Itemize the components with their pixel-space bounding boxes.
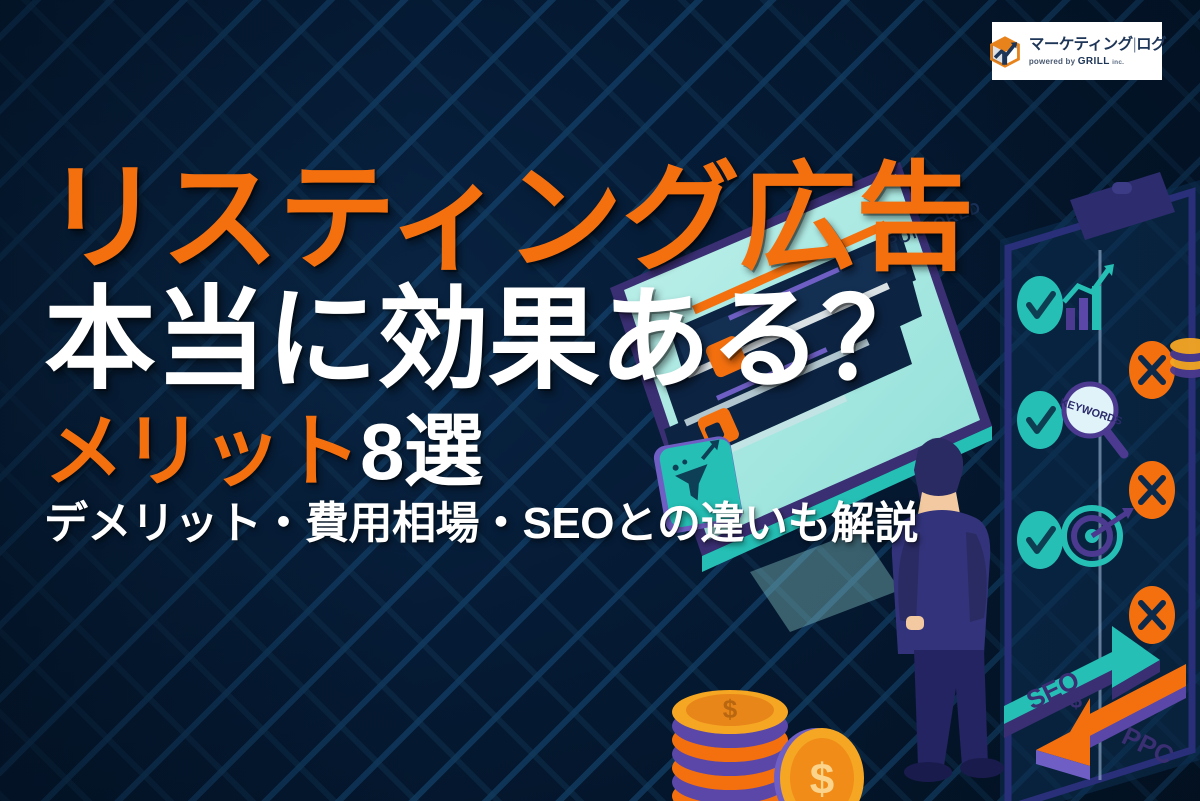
coin-dollar-label-2: $ — [810, 755, 834, 801]
logo-powered-prefix: powered by — [1029, 57, 1075, 66]
site-logo[interactable]: マーケティング|ログ powered by GRILL inc. — [992, 22, 1162, 80]
headline-line-3-orange: メリット — [44, 407, 360, 496]
coin-stack-illustration: $ $ — [672, 690, 864, 801]
headline-block: リスティング広告 本当に効果ある？ メリット8選 デメリット・費用相場・SEOと… — [44, 160, 1004, 546]
coin-dollar-label: $ — [723, 694, 738, 724]
chart-arrow-cube-icon — [988, 35, 1022, 69]
logo-name-tail: ログ — [1136, 36, 1166, 53]
coin-stack-small-icon — [1170, 338, 1200, 378]
logo-tagline: powered by GRILL inc. — [1029, 57, 1124, 67]
logo-name: マーケティング — [1029, 36, 1133, 53]
logo-wordmark: マーケティング|ログ — [1029, 37, 1166, 53]
headline-line-3: メリット8選 — [44, 412, 1004, 492]
checklist-cross-items — [1129, 341, 1175, 644]
headline-line-3-white: 8選 — [360, 407, 483, 496]
dollar-symbol-label: $ — [1070, 688, 1082, 713]
logo-brand: GRILL — [1078, 56, 1110, 67]
banner-canvas: KEYWORDS — [0, 0, 1200, 801]
headline-line-2: 本当に効果ある？ — [44, 284, 1004, 396]
logo-brand-suffix: inc. — [1112, 59, 1124, 66]
headline-subtitle: デメリット・費用相場・SEOとの違いも解説 — [44, 502, 1004, 546]
headline-line-1: リスティング広告 — [44, 160, 1004, 278]
